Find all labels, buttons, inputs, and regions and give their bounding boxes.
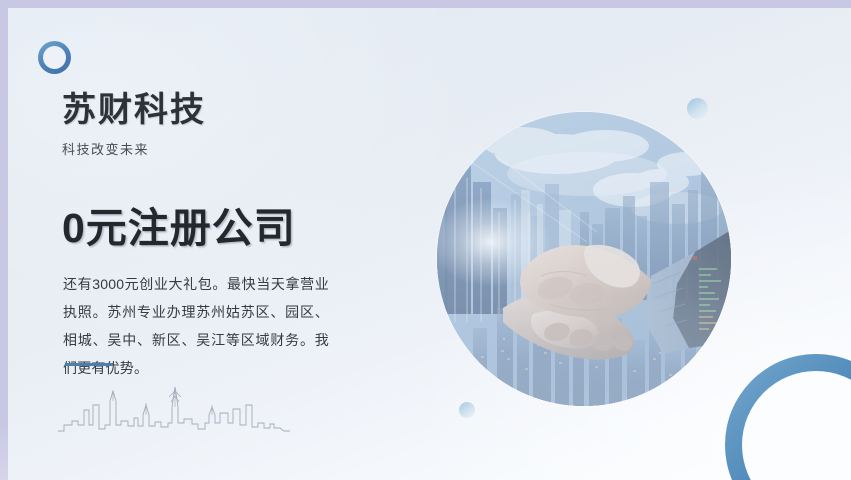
edge-strip-left [0,0,8,480]
headline: 0元注册公司 [62,206,296,251]
brand-name: 苏财科技 [62,93,206,129]
brand-block: 苏财科技 科技改变未来 [62,93,206,158]
brand-tagline: 科技改变未来 [62,139,206,158]
quarter-arc-decoration-icon [725,354,851,480]
city-skyline-icon [58,385,290,433]
promo-banner: 苏财科技 科技改变未来 0元注册公司 还有3000元创业大礼包。最快当天拿营业执… [0,0,851,480]
accent-rule [65,363,113,366]
gradient-dot-large-icon [687,98,708,119]
ring-decoration-icon [38,41,71,74]
hero-photo-handshake [437,112,731,406]
edge-strip-top [0,0,851,8]
gradient-dot-small-icon [459,402,475,418]
